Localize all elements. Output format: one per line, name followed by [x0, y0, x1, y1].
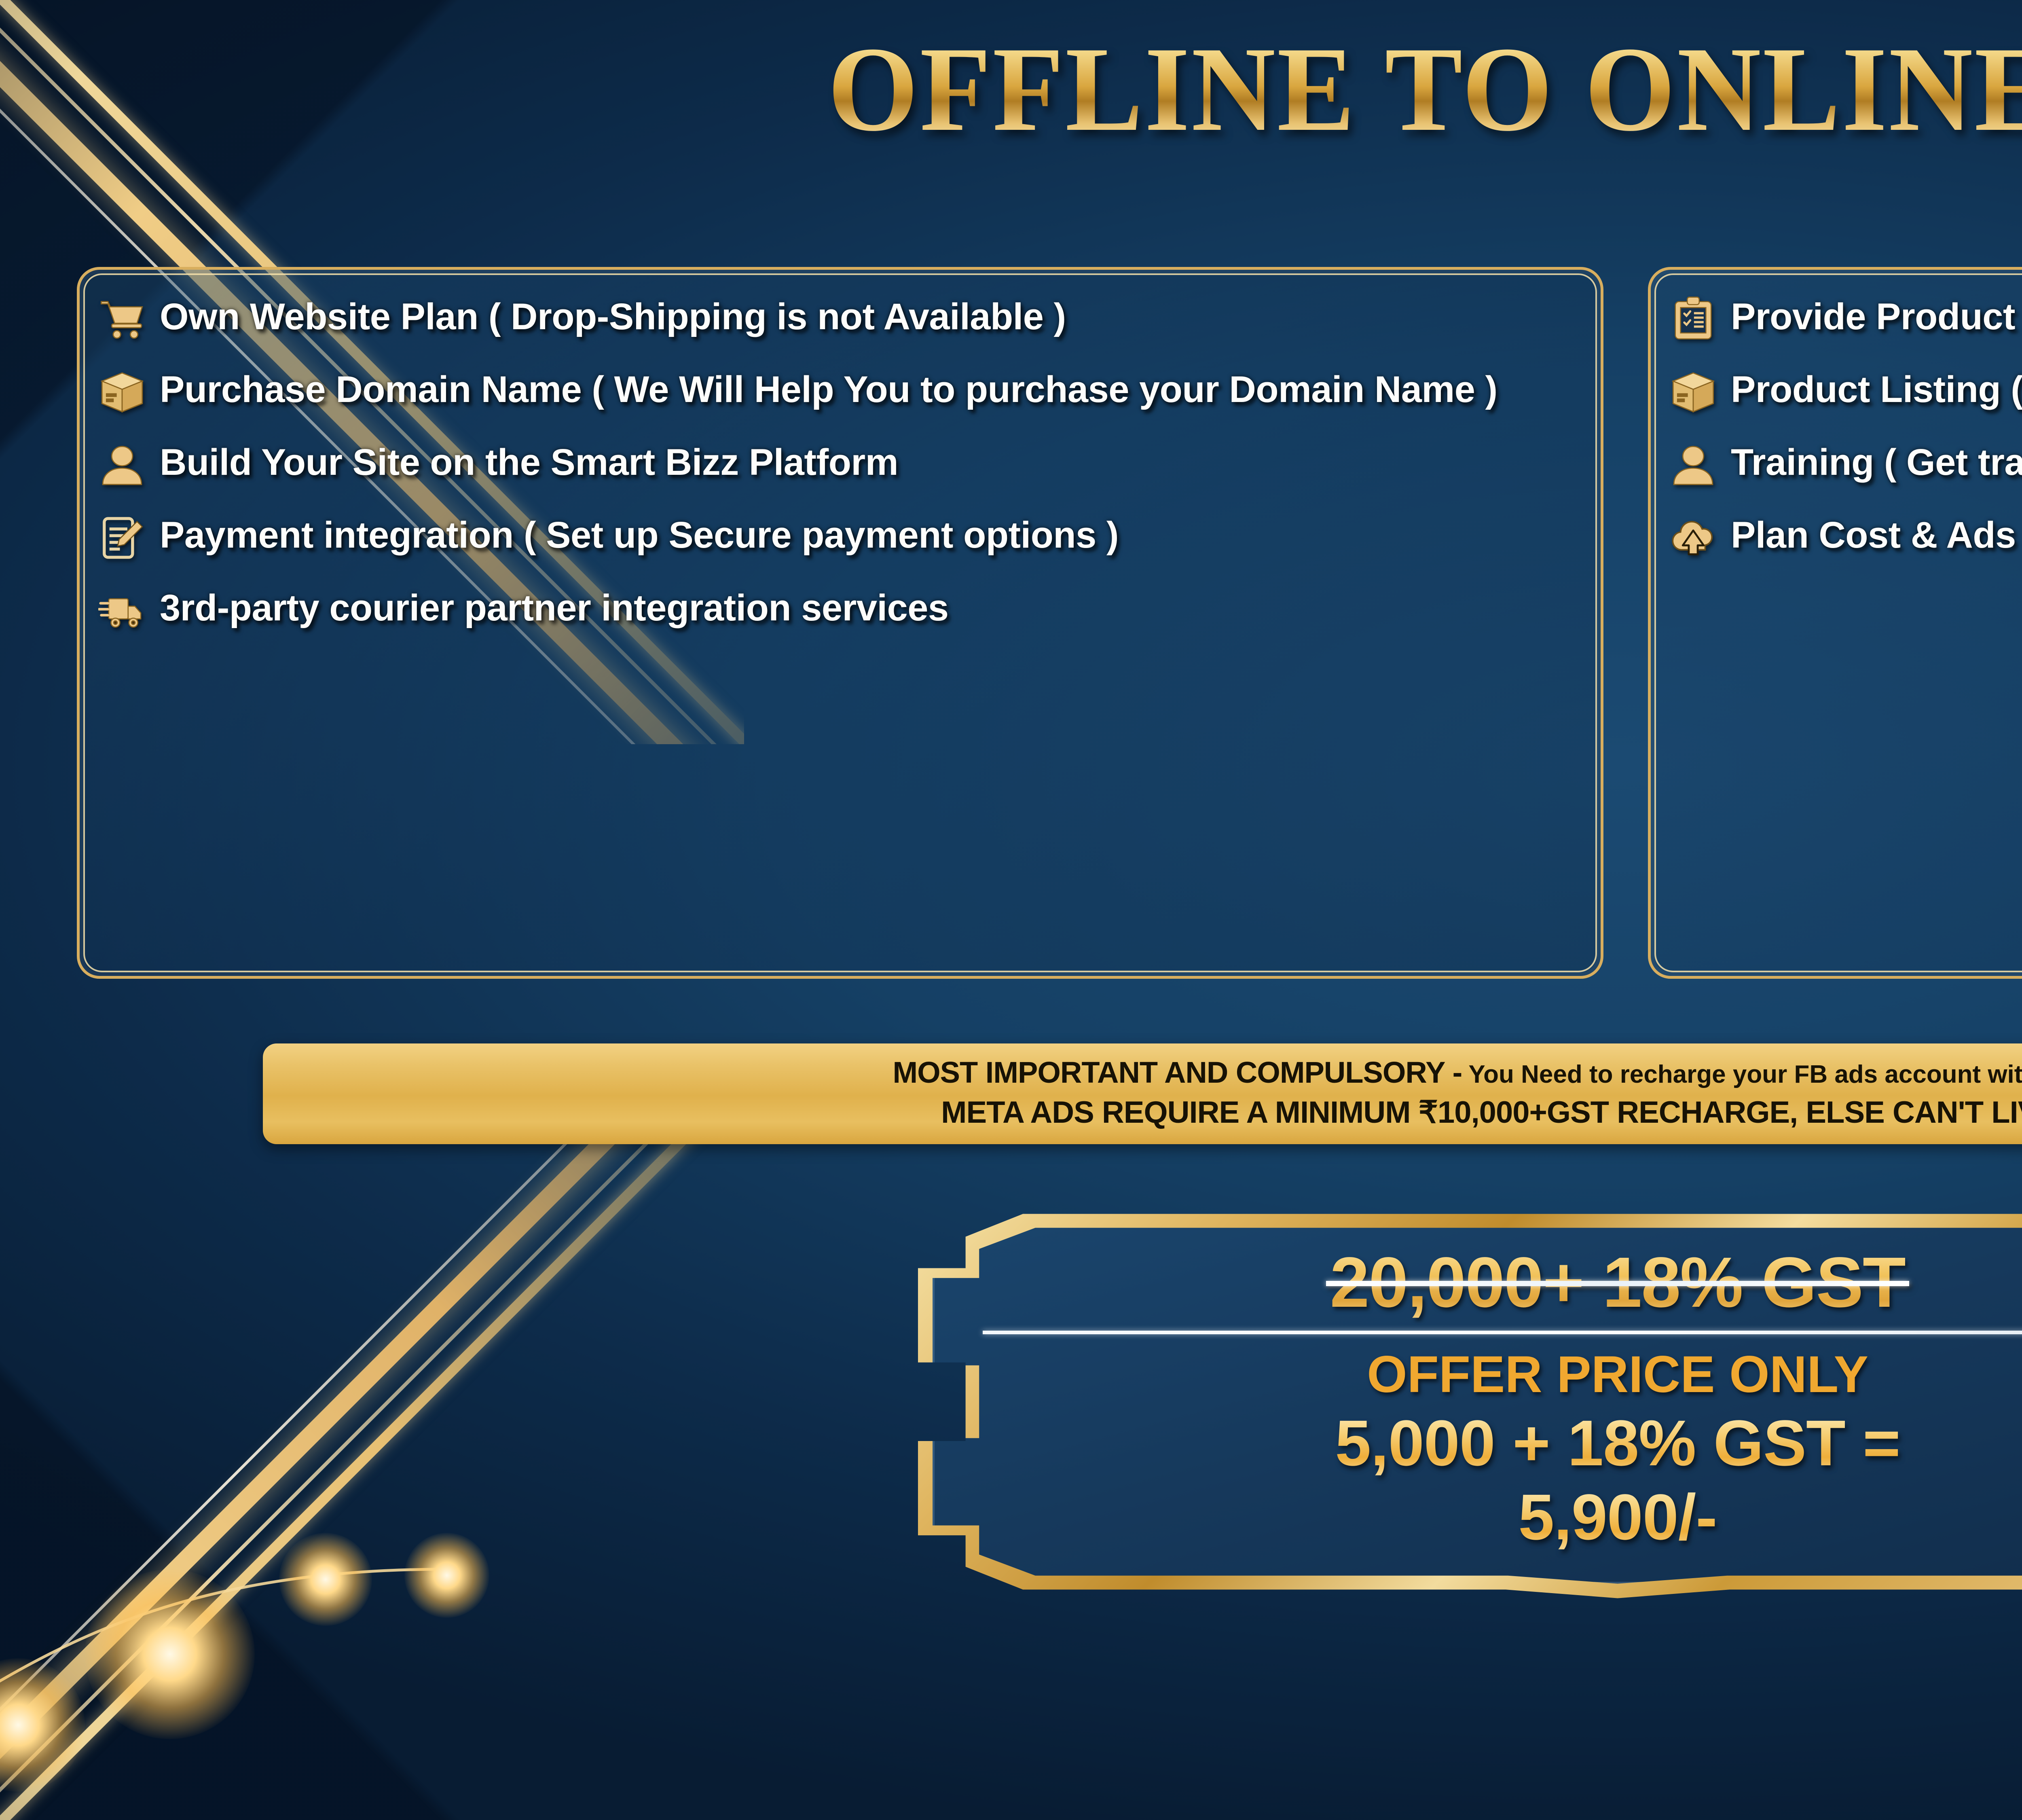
- document-pencil-icon: [98, 514, 146, 562]
- new-price-line-2: 5,900/-: [969, 1482, 2022, 1552]
- list-item-label: Purchase Domain Name ( We Will Help You …: [160, 366, 1497, 414]
- price-badge-wrapper: 20,000+ 18% GST OFFER PRICE ONLY 5,000 +…: [918, 1205, 2022, 1598]
- offer-price-label: OFFER PRICE ONLY: [969, 1345, 2022, 1404]
- price-badge-frame: 20,000+ 18% GST OFFER PRICE ONLY 5,000 +…: [918, 1205, 2022, 1598]
- old-price: 20,000+ 18% GST: [1330, 1242, 1906, 1323]
- list-item: Build Your Site on the Smart Bizz Platfo…: [98, 439, 1584, 489]
- user-person-icon: [98, 441, 146, 489]
- light-trail-curve: [0, 1213, 607, 1820]
- gold-diagonal-line: [0, 1076, 744, 1820]
- bokeh-orb: [85, 1569, 255, 1739]
- compulsory-notice-banner: MOST IMPORTANT AND COMPULSORY - You Need…: [263, 1043, 2022, 1144]
- shopping-cart-icon: [98, 296, 146, 343]
- right-feature-panel: Provide Product Info ( Client provides p…: [1648, 267, 2022, 979]
- list-item: Training ( Get training for adding more …: [1669, 439, 2022, 489]
- new-price-line-1: 5,000 + 18% GST =: [969, 1408, 2022, 1478]
- list-item: Purchase Domain Name ( We Will Help You …: [98, 366, 1584, 416]
- feature-panels: Own Website Plan ( Drop-Shipping is not …: [77, 267, 2022, 979]
- list-item: Payment integration ( Set up Secure paym…: [98, 512, 1584, 562]
- list-item-label: Plan Cost & Ads ( 5,000+ tax ( Plan Fee …: [1731, 512, 2022, 559]
- strikethrough-line: [1326, 1281, 1910, 1286]
- banner-line-2: META ADS REQUIRE A MINIMUM ₹10,000+GST R…: [285, 1094, 2022, 1132]
- list-item-label: Own Website Plan ( Drop-Shipping is not …: [160, 293, 1066, 341]
- corner-shade-wedge: [0, 1076, 744, 1820]
- delivery-truck-icon: [98, 587, 146, 635]
- list-item: Own Website Plan ( Drop-Shipping is not …: [98, 293, 1584, 343]
- list-item-label: 3rd-party courier partner integration se…: [160, 584, 949, 632]
- list-item: Plan Cost & Ads ( 5,000+ tax ( Plan Fee …: [1669, 512, 2022, 562]
- price-badge-inner: 20,000+ 18% GST OFFER PRICE ONLY 5,000 +…: [933, 1220, 2022, 1584]
- promo-poster: OFFLINE TO ONLINE PLAN Own Website Plan …: [0, 0, 2022, 1820]
- list-item-label: Payment integration ( Set up Secure paym…: [160, 512, 1119, 559]
- list-item-label: Build Your Site on the Smart Bizz Platfo…: [160, 439, 898, 487]
- list-item-label: Provide Product Info ( Client provides p…: [1731, 293, 2022, 341]
- user-person-icon: [1669, 441, 1717, 489]
- list-item: Provide Product Info ( Client provides p…: [1669, 293, 2022, 343]
- banner-line-1: MOST IMPORTANT AND COMPULSORY - You Need…: [285, 1054, 2022, 1092]
- light-trail-decoration: [0, 1213, 607, 1820]
- bokeh-orb: [0, 1658, 85, 1792]
- banner-line-1-rest: You Need to recharge your FB ads account…: [1462, 1060, 2022, 1088]
- list-item: 3rd-party courier partner integration se…: [98, 584, 1584, 635]
- divider-line: [983, 1331, 2022, 1334]
- cloud-upload-icon: [1669, 514, 1717, 562]
- package-box-icon: [98, 368, 146, 416]
- list-item-label: Training ( Get training for adding more …: [1731, 439, 2022, 487]
- gold-diagonal-line: [0, 1076, 744, 1820]
- banner-line-1-lead: MOST IMPORTANT AND COMPULSORY -: [893, 1056, 1462, 1089]
- corner-decoration-bottom-left: [0, 1076, 744, 1820]
- gold-diagonal-line: [0, 1076, 744, 1820]
- clipboard-checklist-icon: [1669, 296, 1717, 343]
- gold-diagonal-line: [0, 1076, 744, 1820]
- bokeh-orb: [279, 1533, 372, 1626]
- package-box-icon: [1669, 368, 1717, 416]
- left-feature-panel: Own Website Plan ( Drop-Shipping is not …: [77, 267, 1603, 979]
- list-item: Product Listing ( We will List 20 produc…: [1669, 366, 2022, 416]
- page-title: OFFLINE TO ONLINE PLAN: [65, 28, 2022, 150]
- bokeh-orb: [404, 1533, 489, 1618]
- list-item-label: Product Listing ( We will List 20 produc…: [1731, 366, 2022, 414]
